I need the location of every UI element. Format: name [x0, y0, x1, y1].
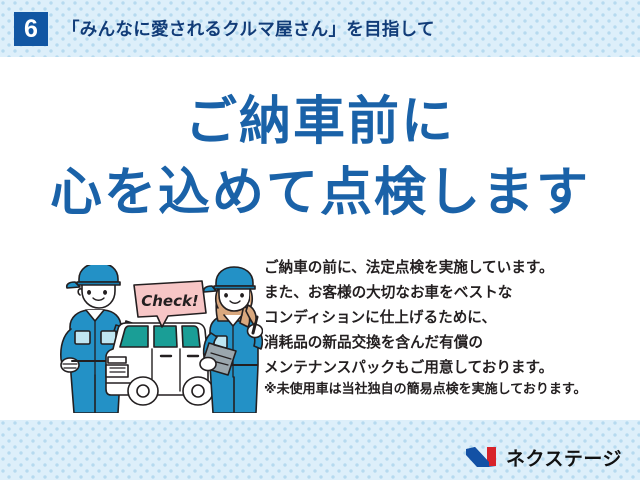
footnote-text: ※未使用車は当社独自の簡易点検を実施しております。: [264, 380, 624, 398]
body-line-5: メンテナンスパックもご用意しております。: [264, 356, 620, 381]
body-line-2: また、お客様の大切なお車をベストな: [264, 281, 620, 306]
body-line-3: コンディションに仕上げるために、: [264, 306, 620, 331]
header-title: 「みんなに愛されるクルマ屋さん」を目指して: [62, 16, 435, 41]
promo-banner: 6 「みんなに愛されるクルマ屋さん」を目指して ご納車前に 心を込めて点検します…: [0, 0, 640, 480]
headline-line-1: ご納車前に: [0, 93, 640, 151]
nexstage-n-mark: [465, 445, 499, 469]
body-line-4: 消耗品の新品交換を含んだ有償の: [264, 331, 620, 356]
brand-name: ネクステージ: [506, 444, 622, 471]
brand-logo: ネクステージ: [465, 442, 622, 472]
body-copy: ご納車の前に、法定点検を実施しています。 また、お客様の大切なお車をベストな コ…: [264, 256, 620, 381]
section-number-badge: 6: [14, 12, 48, 46]
headline-line-2: 心を込めて点検します: [0, 164, 640, 222]
check-label: Check!: [141, 292, 199, 310]
content-panel: ご納車前に 心を込めて点検します ご納車の前に、法定点検を実施しています。 また…: [0, 57, 640, 420]
mechanics-illustration: Check!: [58, 265, 263, 413]
header-bar: 6 「みんなに愛されるクルマ屋さん」を目指して: [0, 0, 640, 57]
kei-van-vehicle: [106, 323, 213, 405]
body-line-1: ご納車の前に、法定点検を実施しています。: [264, 256, 620, 281]
